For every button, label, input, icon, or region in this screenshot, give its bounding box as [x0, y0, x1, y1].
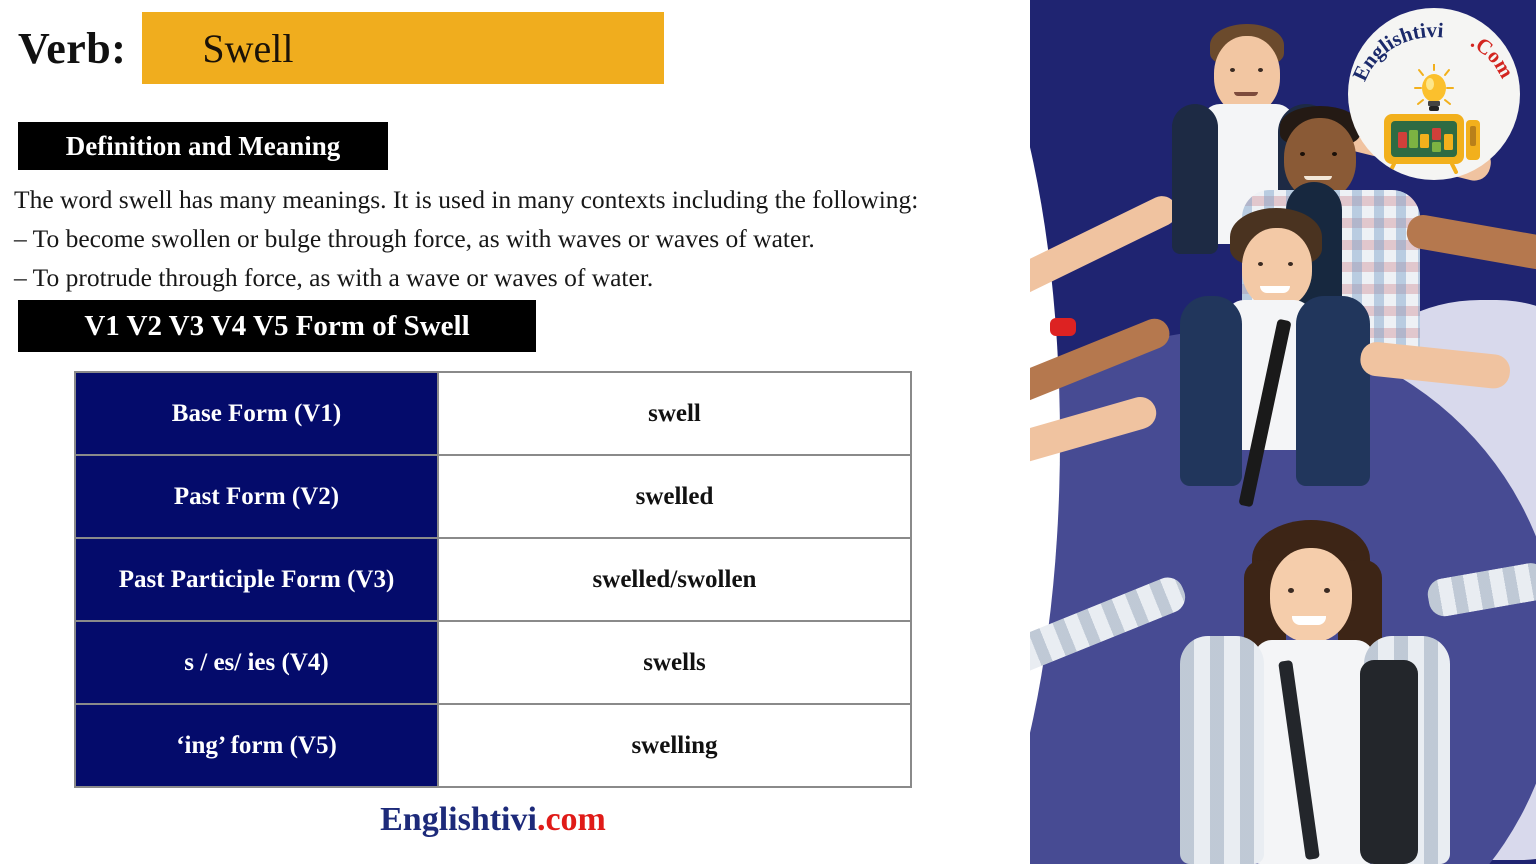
logo-text-tld: .Com — [1467, 29, 1519, 83]
table-row: s / es/ ies (V4) swells — [75, 621, 911, 704]
verb-forms-section-badge: V1 V2 V3 V4 V5 Form of Swell — [18, 300, 536, 352]
form-value: swell — [438, 372, 911, 455]
definition-line-3: – To protrude through force, as with a w… — [14, 258, 974, 297]
form-label: Past Participle Form (V3) — [75, 538, 438, 621]
verb-value-chip: Swell — [142, 12, 664, 84]
table-row: Base Form (V1) swell — [75, 372, 911, 455]
definition-line-1: The word swell has many meanings. It is … — [14, 180, 974, 219]
definition-line-2: – To become swollen or bulge through for… — [14, 219, 974, 258]
tv-blackboard-icon — [1382, 112, 1486, 174]
form-value: swelling — [438, 704, 911, 787]
definition-text-block: The word swell has many meanings. It is … — [14, 180, 974, 297]
site-logo-badge: Englishtivi .Com — [1348, 8, 1520, 180]
lightbulb-icon — [1414, 64, 1454, 116]
form-value: swelled/swollen — [438, 538, 911, 621]
table-row: Past Participle Form (V3) swelled/swolle… — [75, 538, 911, 621]
footer-brand-tld: .com — [537, 801, 606, 838]
verb-value: Swell — [142, 25, 293, 72]
verb-header-row: Verb: Swell — [18, 12, 664, 84]
table-row: ‘ing’ form (V5) swelling — [75, 704, 911, 787]
footer-brand-main: Englishtivi — [380, 801, 537, 838]
verb-label: Verb: — [18, 23, 126, 74]
form-value: swelled — [438, 455, 911, 538]
main-content: Verb: Swell Definition and Meaning The w… — [0, 0, 1030, 864]
svg-text:.Com: .Com — [1467, 29, 1519, 83]
form-label: ‘ing’ form (V5) — [75, 704, 438, 787]
footer-brand: Englishtivi.com — [74, 801, 912, 839]
form-value: swells — [438, 621, 911, 704]
verb-forms-table: Base Form (V1) swell Past Form (V2) swel… — [74, 371, 912, 788]
definition-section-badge: Definition and Meaning — [18, 122, 388, 170]
form-label: s / es/ ies (V4) — [75, 621, 438, 704]
table-row: Past Form (V2) swelled — [75, 455, 911, 538]
form-label: Base Form (V1) — [75, 372, 438, 455]
form-label: Past Form (V2) — [75, 455, 438, 538]
